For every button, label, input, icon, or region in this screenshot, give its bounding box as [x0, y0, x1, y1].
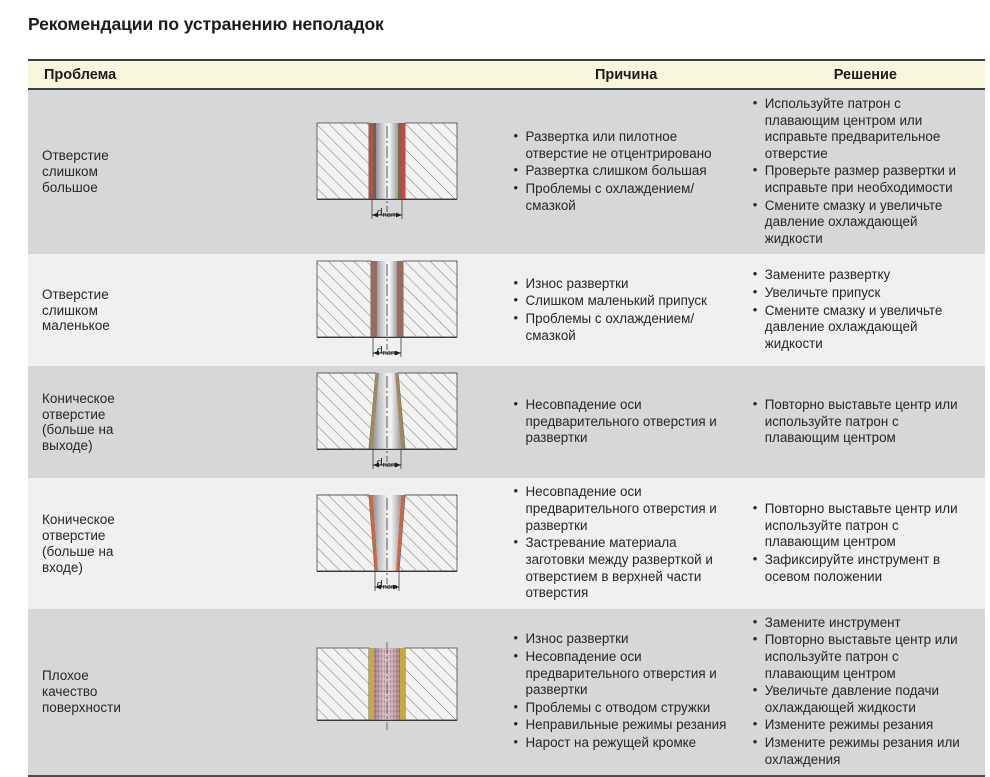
- table-row: Плохоекачествоповерхности: [28, 609, 985, 776]
- hole-too-large-diagram: dnom: [312, 120, 462, 224]
- figure-cell: dnom: [267, 366, 506, 478]
- figure-cell: [267, 609, 506, 776]
- list-item: Несовпадение оси предварительного отверс…: [513, 484, 738, 534]
- cause-list: Развертка или пилотное отверстие не отце…: [513, 129, 738, 214]
- figure-cell: dnom: [267, 254, 506, 366]
- list-item: Проблемы с охлаждением/смазкой: [513, 181, 738, 214]
- cause-list: Износ разверткиСлишком маленький припуск…: [513, 276, 738, 344]
- solution-list: Повторно выставьте центр или используйте…: [752, 501, 977, 585]
- problem-label: Коническоеотверстие(больше навходе): [42, 512, 115, 575]
- list-item: Увеличьте давление подачи охлаждающей жи…: [752, 683, 977, 716]
- solution-list: Замените инструментПовторно выставьте це…: [752, 615, 977, 768]
- cause-list: Износ разверткиНесовпадение оси предвари…: [513, 631, 738, 751]
- column-header-cause: Причина: [507, 60, 746, 89]
- list-item: Неправильные режимы резания: [513, 717, 738, 734]
- list-item: Повторно выставьте центр или используйте…: [752, 501, 977, 551]
- table-row: Отверстиеслишкоммаленькое: [28, 254, 985, 366]
- troubleshooting-table: Проблема Причина Решение Отверстиеслишко…: [28, 59, 985, 777]
- cause-cell: Несовпадение оси предварительного отверс…: [507, 366, 746, 478]
- list-item: Зафиксируйте инструмент в осевом положен…: [752, 552, 977, 585]
- cause-list: Несовпадение оси предварительного отверс…: [513, 397, 738, 447]
- solution-cell: Повторно выставьте центр или используйте…: [746, 478, 985, 608]
- list-item: Увеличьте припуск: [752, 285, 977, 302]
- cause-cell: Несовпадение оси предварительного отверс…: [507, 478, 746, 608]
- problem-label: Плохоекачествоповерхности: [42, 668, 121, 715]
- list-item: Проблемы с охлаждением/смазкой: [513, 311, 738, 344]
- cause-cell: Развертка или пилотное отверстие не отце…: [507, 89, 746, 254]
- list-item: Используйте патрон с плавающим центром и…: [752, 96, 977, 162]
- tapered-hole-wider-at-entry-diagram: dnom: [312, 492, 462, 596]
- hole-too-small-diagram: dnom: [312, 258, 462, 362]
- problem-label-cell: Отверстиеслишкоммаленькое: [28, 254, 267, 366]
- table-row: Коническоеотверстие(больше навходе): [28, 478, 985, 608]
- table-row: Коническоеотверстие(больше навыходе): [28, 366, 985, 478]
- solution-list: Используйте патрон с плавающим центром и…: [752, 96, 977, 247]
- list-item: Замените развертку: [752, 267, 977, 284]
- figure-cell: dnom: [267, 478, 506, 608]
- solution-list: Замените разверткуУвеличьте припускСмени…: [752, 267, 977, 352]
- table-row: Отверстиеслишкомбольшое: [28, 89, 985, 254]
- problem-label: Коническоеотверстие(больше навыходе): [42, 391, 115, 454]
- table-body: Отверстиеслишкомбольшое: [28, 89, 985, 776]
- problem-label-cell: Коническоеотверстие(больше навходе): [28, 478, 267, 608]
- cause-cell: Износ разверткиНесовпадение оси предвари…: [507, 609, 746, 776]
- list-item: Несовпадение оси предварительного отверс…: [513, 649, 738, 699]
- list-item: Проблемы с отводом стружки: [513, 700, 738, 717]
- page-title: Рекомендации по устранению неполадок: [28, 14, 384, 35]
- list-item: Замените инструмент: [752, 615, 977, 632]
- list-item: Развертка или пилотное отверстие не отце…: [513, 129, 738, 162]
- list-item: Износ развертки: [513, 631, 738, 648]
- list-item: Развертка слишком большая: [513, 163, 738, 180]
- list-item: Измените режимы резания: [752, 717, 977, 734]
- list-item: Застревание материала заготовки между ра…: [513, 535, 738, 601]
- tapered-hole-wider-at-exit-diagram: dnom: [312, 370, 462, 474]
- solution-list: Повторно выставьте центр или используйте…: [752, 397, 977, 447]
- solution-cell: Повторно выставьте центр или используйте…: [746, 366, 985, 478]
- list-item: Повторно выставьте центр или используйте…: [752, 632, 977, 682]
- list-item: Повторно выставьте центр или используйте…: [752, 397, 977, 447]
- list-item: Проверьте размер развертки и исправьте п…: [752, 163, 977, 196]
- solution-cell: Используйте патрон с плавающим центром и…: [746, 89, 985, 254]
- header-row: Проблема Причина Решение: [28, 60, 985, 89]
- list-item: Измените режимы резания или охлаждения: [752, 735, 977, 768]
- column-header-problem: Проблема: [28, 60, 507, 89]
- list-item: Слишком маленький припуск: [513, 293, 738, 310]
- list-item: Смените смазку и увеличьте давление охла…: [752, 198, 977, 248]
- figure-cell: dnom: [267, 89, 506, 254]
- table-header: Проблема Причина Решение: [28, 60, 985, 89]
- problem-label-cell: Отверстиеслишкомбольшое: [28, 89, 267, 254]
- solution-cell: Замените разверткуУвеличьте припускСмени…: [746, 254, 985, 366]
- list-item: Износ развертки: [513, 276, 738, 293]
- poor-surface-finish-diagram: [312, 640, 462, 744]
- troubleshooting-table-wrapper: Проблема Причина Решение Отверстиеслишко…: [28, 59, 985, 777]
- list-item: Нарост на режущей кромке: [513, 735, 738, 752]
- cause-cell: Износ разверткиСлишком маленький припуск…: [507, 254, 746, 366]
- problem-label-cell: Коническоеотверстие(больше навыходе): [28, 366, 267, 478]
- column-header-solution: Решение: [746, 60, 985, 89]
- problem-label: Отверстиеслишкоммаленькое: [42, 287, 110, 334]
- list-item: Смените смазку и увеличьте давление охла…: [752, 303, 977, 353]
- list-item: Несовпадение оси предварительного отверс…: [513, 397, 738, 447]
- solution-cell: Замените инструментПовторно выставьте це…: [746, 609, 985, 776]
- problem-label-cell: Плохоекачествоповерхности: [28, 609, 267, 776]
- problem-label: Отверстиеслишкомбольшое: [42, 148, 109, 195]
- cause-list: Несовпадение оси предварительного отверс…: [513, 484, 738, 601]
